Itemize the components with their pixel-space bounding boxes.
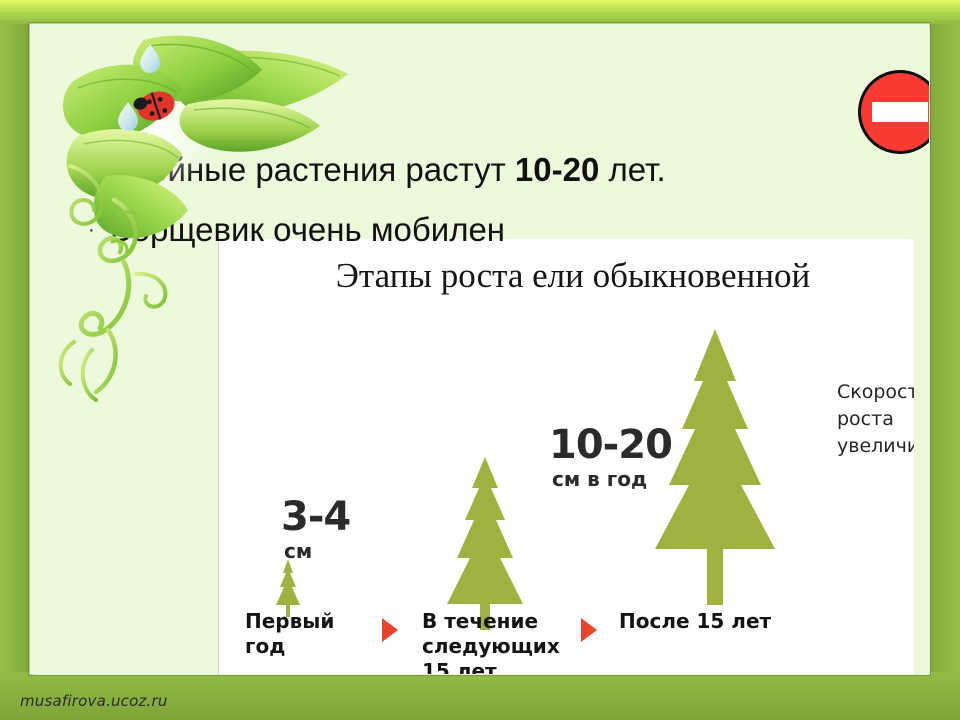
stage1-rate-value: 3-4 bbox=[281, 494, 350, 540]
bullet-1-suffix: лет. bbox=[599, 151, 665, 188]
bullet-item-2-text: Борщевик очень мобилен bbox=[110, 208, 505, 252]
bullet-item-2: · Борщевик очень мобилен bbox=[88, 208, 878, 252]
stage2-rate-value: 10-20 bbox=[549, 422, 672, 468]
watermark-text: musafirova.ucoz.ru bbox=[20, 692, 168, 710]
ladybug-icon bbox=[132, 87, 178, 125]
growth-speed-note-line-3: увеличивается bbox=[837, 433, 914, 460]
stage-arrow-1-icon bbox=[382, 618, 398, 642]
bullet-item-1: · Хвойные растения растут 10-20 лет. bbox=[88, 148, 878, 192]
stage2-caption-line-1: В течение bbox=[422, 609, 560, 634]
growth-speed-note-line-2: роста bbox=[837, 406, 914, 433]
frame-top-edge bbox=[0, 0, 960, 24]
slide-canvas: Этапы роста ели обыкновенной bbox=[0, 0, 960, 720]
growth-speed-note-line-1: Скорость bbox=[837, 379, 914, 406]
no-entry-bar bbox=[872, 102, 928, 122]
growth-stages-diagram: Этапы роста ели обыкновенной bbox=[218, 239, 914, 674]
stage2-caption-line-2: следующих bbox=[422, 634, 560, 659]
frame-left-edge bbox=[0, 0, 30, 720]
no-entry-sign-icon bbox=[858, 70, 929, 154]
bullet-list: · Хвойные растения растут 10-20 лет. · Б… bbox=[88, 148, 878, 268]
stage1-rate-unit: см bbox=[284, 539, 312, 563]
bullet-1-bold: 10-20 bbox=[515, 151, 599, 188]
stage2-caption-line-3: 15 лет bbox=[422, 659, 560, 674]
stage1-caption-line-2: год bbox=[245, 634, 334, 659]
stage3-caption-line-1: После 15 лет bbox=[619, 609, 771, 634]
stage2-rate-unit: см в год bbox=[552, 467, 647, 491]
growth-speed-note: Скорость роста увеличивается bbox=[837, 379, 914, 460]
water-drop-icon bbox=[118, 44, 160, 131]
bullet-marker-icon: · bbox=[88, 208, 110, 252]
frame-right-edge bbox=[928, 0, 960, 720]
stage-arrow-2-icon bbox=[581, 618, 597, 642]
stage1-caption: Первый год bbox=[245, 609, 334, 659]
stage2-caption: В течение следующих 15 лет bbox=[422, 609, 560, 674]
stage1-caption-line-1: Первый bbox=[245, 609, 334, 634]
bullet-marker-icon: · bbox=[88, 148, 110, 192]
bullet-item-1-text: Хвойные растения растут 10-20 лет. bbox=[110, 148, 666, 192]
stage3-caption: После 15 лет bbox=[619, 609, 771, 634]
bullet-1-prefix: Хвойные растения растут bbox=[110, 151, 515, 188]
slide-content-area: Этапы роста ели обыкновенной bbox=[30, 24, 929, 674]
